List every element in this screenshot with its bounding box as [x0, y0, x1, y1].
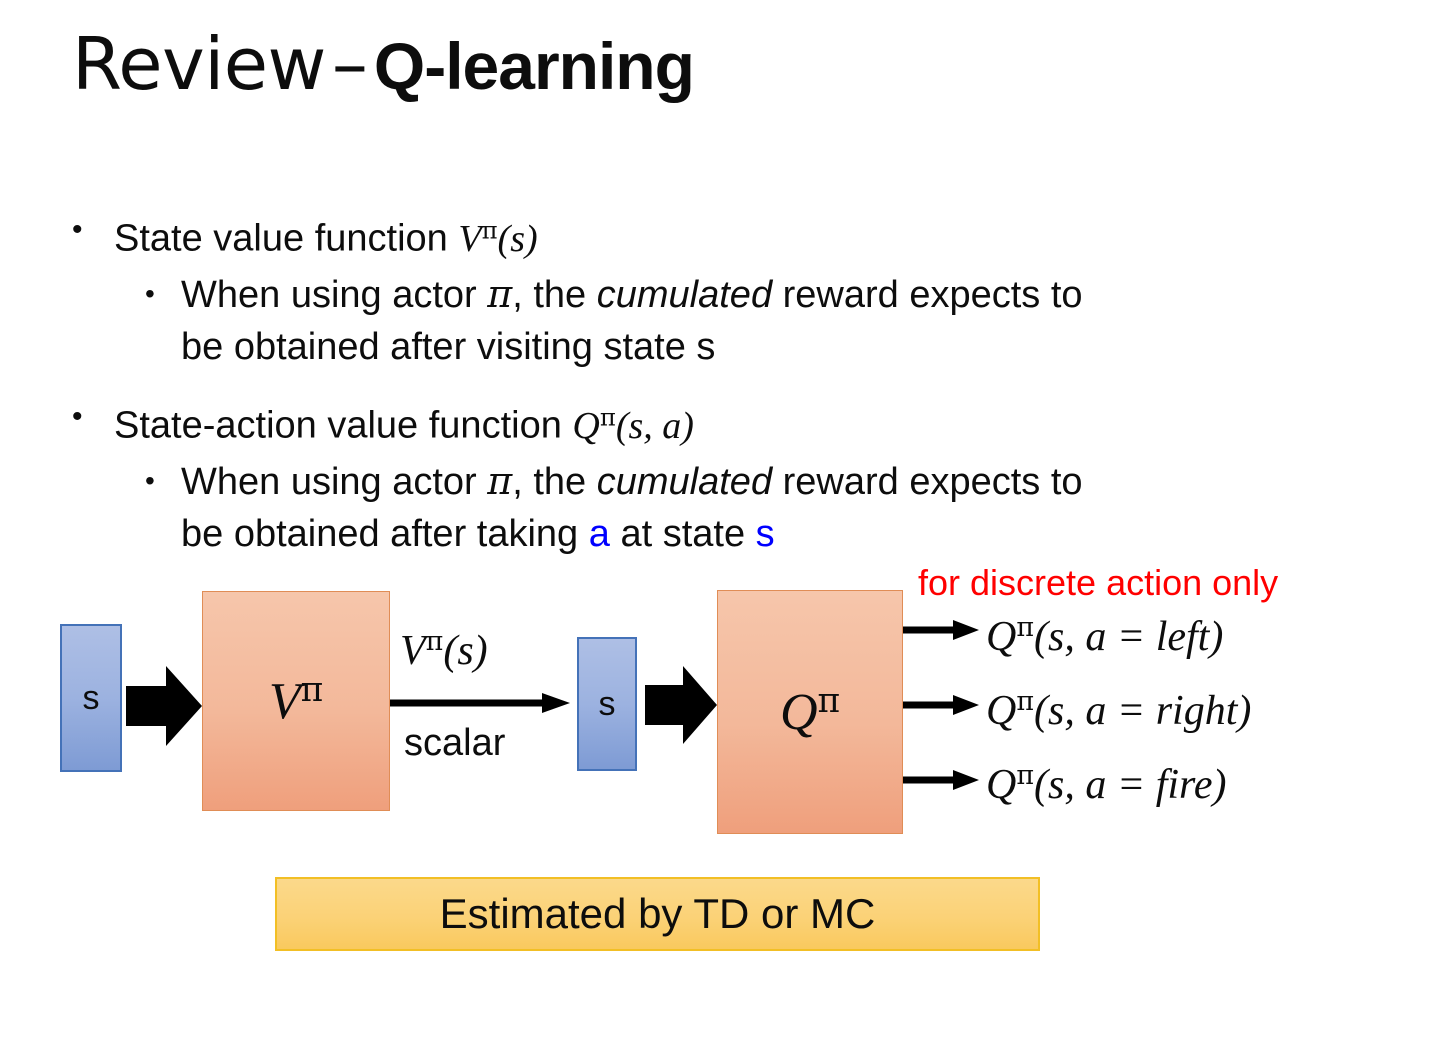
q-out-args-pre: (s, a =	[1034, 688, 1156, 734]
q-output-right: Qπ(s, a = right)	[986, 686, 1251, 735]
v-out-args: (s)	[443, 628, 487, 674]
q-state-input-label: s	[599, 685, 616, 724]
block-arrow-svg	[645, 664, 717, 746]
v-output-arrow-icon	[390, 692, 570, 714]
q-out-action: fire	[1156, 762, 1213, 808]
thin-arrow-svg	[903, 694, 979, 716]
q-out-superscript: π	[1016, 612, 1034, 643]
q-output-left: Qπ(s, a = left)	[986, 612, 1223, 661]
q-out-args-post: )	[1209, 614, 1223, 660]
v-function-box: Vπ	[202, 591, 390, 811]
slide-canvas: Review–Q-learning • State value function…	[0, 0, 1442, 1038]
q-out-args-post: )	[1237, 688, 1251, 734]
q-output-arrow-1-icon	[903, 619, 979, 641]
q-out-args-post: )	[1212, 762, 1226, 808]
estimation-method-label: Estimated by TD or MC	[440, 890, 876, 938]
q-out-base: Q	[986, 614, 1016, 660]
q-out-base: Q	[986, 762, 1016, 808]
q-state-input-box: s	[577, 637, 637, 771]
v-state-input-box: s	[60, 624, 122, 772]
q-out-superscript: π	[1016, 686, 1034, 717]
q-out-args-pre: (s, a =	[1034, 762, 1156, 808]
q-output-arrow-2-icon	[903, 694, 979, 716]
q-out-superscript: π	[1016, 760, 1034, 791]
v-function-label: Vπ	[269, 670, 323, 731]
thin-arrow-svg	[390, 692, 570, 714]
v-out-base: V	[400, 628, 426, 674]
v-state-input-label: s	[83, 679, 100, 718]
discrete-action-note: for discrete action only	[918, 562, 1278, 604]
block-arrow-svg	[126, 664, 202, 748]
q-output-arrow-3-icon	[903, 769, 979, 791]
q-input-block-arrow-icon	[645, 664, 717, 746]
q-out-action: left	[1156, 614, 1210, 660]
q-superscript: π	[818, 681, 841, 721]
q-base: Q	[780, 685, 818, 742]
v-output-math-label: Vπ(s)	[400, 626, 488, 675]
v-input-block-arrow-icon	[126, 664, 202, 748]
value-function-diagram: s Vπ Vπ(s) scalar s	[0, 0, 1442, 1038]
q-function-label: Qπ	[780, 681, 840, 742]
q-function-box: Qπ	[717, 590, 903, 834]
v-output-caption: scalar	[404, 722, 505, 765]
v-superscript: π	[301, 670, 324, 710]
estimation-method-box: Estimated by TD or MC	[275, 877, 1040, 951]
q-out-action: right	[1156, 688, 1238, 734]
v-out-superscript: π	[426, 626, 444, 657]
q-out-args-pre: (s, a =	[1034, 614, 1156, 660]
thin-arrow-svg	[903, 619, 979, 641]
q-out-base: Q	[986, 688, 1016, 734]
q-output-fire: Qπ(s, a = fire)	[986, 760, 1226, 809]
v-base: V	[269, 674, 301, 731]
thin-arrow-svg	[903, 769, 979, 791]
